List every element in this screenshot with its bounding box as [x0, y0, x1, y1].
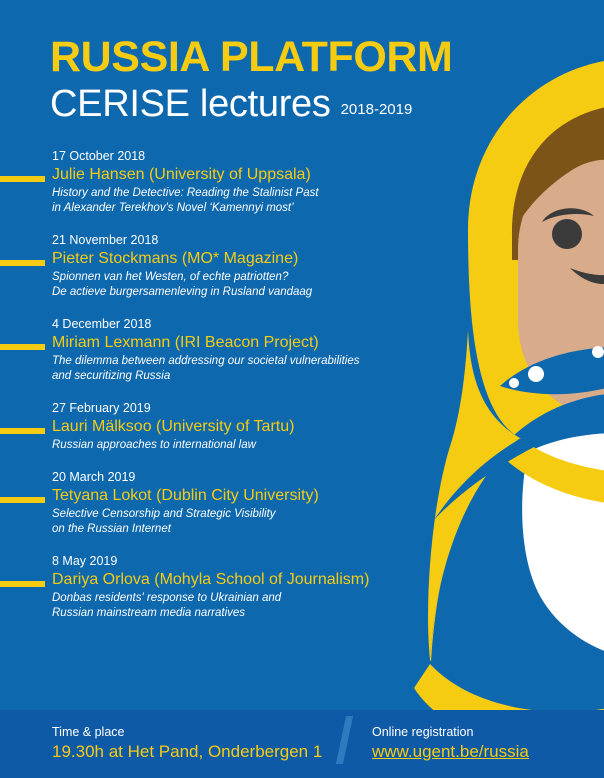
lecture-date: 20 March 2019	[52, 469, 470, 485]
lecture-description-line: Russian mainstream media narratives	[52, 606, 470, 621]
lecture-description-line: Selective Censorship and Strategic Visib…	[52, 507, 470, 522]
lecture-description-line: and securitizing Russia	[52, 369, 470, 384]
lecture-speaker: Dariya Orlova (Mohyla School of Journali…	[52, 569, 470, 591]
time-and-place-block: Time & place 19.30h at Het Pand, Onderbe…	[52, 724, 322, 763]
list-item: 21 November 2018 Pieter Stockmans (MO* M…	[0, 232, 470, 300]
lecture-description-line: Spionnen van het Westen, of echte patrio…	[52, 270, 470, 285]
list-item: 20 March 2019 Tetyana Lokot (Dublin City…	[0, 469, 470, 537]
time-and-place-label: Time & place	[52, 724, 322, 740]
bullet-dash-icon	[0, 176, 45, 182]
list-item: 27 February 2019 Lauri Mälksoo (Universi…	[0, 400, 470, 453]
lecture-speaker: Julie Hansen (University of Uppsala)	[52, 164, 470, 186]
lecture-date: 21 November 2018	[52, 232, 470, 248]
list-item: 17 October 2018 Julie Hansen (University…	[0, 148, 470, 216]
lecture-description-line: Donbas residents' response to Ukrainian …	[52, 591, 470, 606]
poster-subtitle-row: CERISE lectures 2018-2019	[50, 83, 480, 125]
lecture-description-line: on the Russian Internet	[52, 522, 470, 537]
lecture-date: 4 December 2018	[52, 316, 470, 332]
registration-block: Online registration www.ugent.be/russia	[372, 724, 529, 763]
lecture-description-line: Russian approaches to international law	[52, 438, 470, 453]
bullet-dash-icon	[0, 260, 45, 266]
poster: RUSSIA PLATFORM CERISE lectures 2018-201…	[0, 0, 604, 778]
poster-content: RUSSIA PLATFORM CERISE lectures 2018-201…	[0, 0, 604, 778]
academic-year-badge: 2018-2019	[341, 101, 413, 118]
lecture-date: 27 February 2019	[52, 400, 470, 416]
bullet-dash-icon	[0, 581, 45, 587]
lecture-list: 17 October 2018 Julie Hansen (University…	[0, 148, 470, 637]
lecture-date: 17 October 2018	[52, 148, 470, 164]
lecture-date: 8 May 2019	[52, 553, 470, 569]
page-subtitle: CERISE lectures	[50, 83, 331, 125]
registration-label: Online registration	[372, 724, 529, 740]
list-item: 4 December 2018 Miriam Lexmann (IRI Beac…	[0, 316, 470, 384]
lecture-speaker: Miriam Lexmann (IRI Beacon Project)	[52, 332, 470, 354]
time-and-place-value: 19.30h at Het Pand, Onderbergen 1	[52, 740, 322, 763]
lecture-description-line: De actieve burgersamenleving in Rusland …	[52, 285, 470, 300]
lecture-speaker: Tetyana Lokot (Dublin City University)	[52, 485, 470, 507]
lecture-description-line: in Alexander Terekhov's Novel ‘Kamennyi …	[52, 201, 470, 216]
bullet-dash-icon	[0, 428, 45, 434]
bullet-dash-icon	[0, 344, 45, 350]
poster-title-block: RUSSIA PLATFORM CERISE lectures 2018-201…	[50, 33, 480, 125]
bullet-dash-icon	[0, 497, 45, 503]
lecture-speaker: Pieter Stockmans (MO* Magazine)	[52, 248, 470, 270]
list-item: 8 May 2019 Dariya Orlova (Mohyla School …	[0, 553, 470, 621]
lecture-description-line: History and the Detective: Reading the S…	[52, 186, 470, 201]
page-title: RUSSIA PLATFORM	[50, 33, 480, 81]
lecture-description-line: The dilemma between addressing our socie…	[52, 354, 470, 369]
registration-link[interactable]: www.ugent.be/russia	[372, 740, 529, 763]
lecture-speaker: Lauri Mälksoo (University of Tartu)	[52, 416, 470, 438]
